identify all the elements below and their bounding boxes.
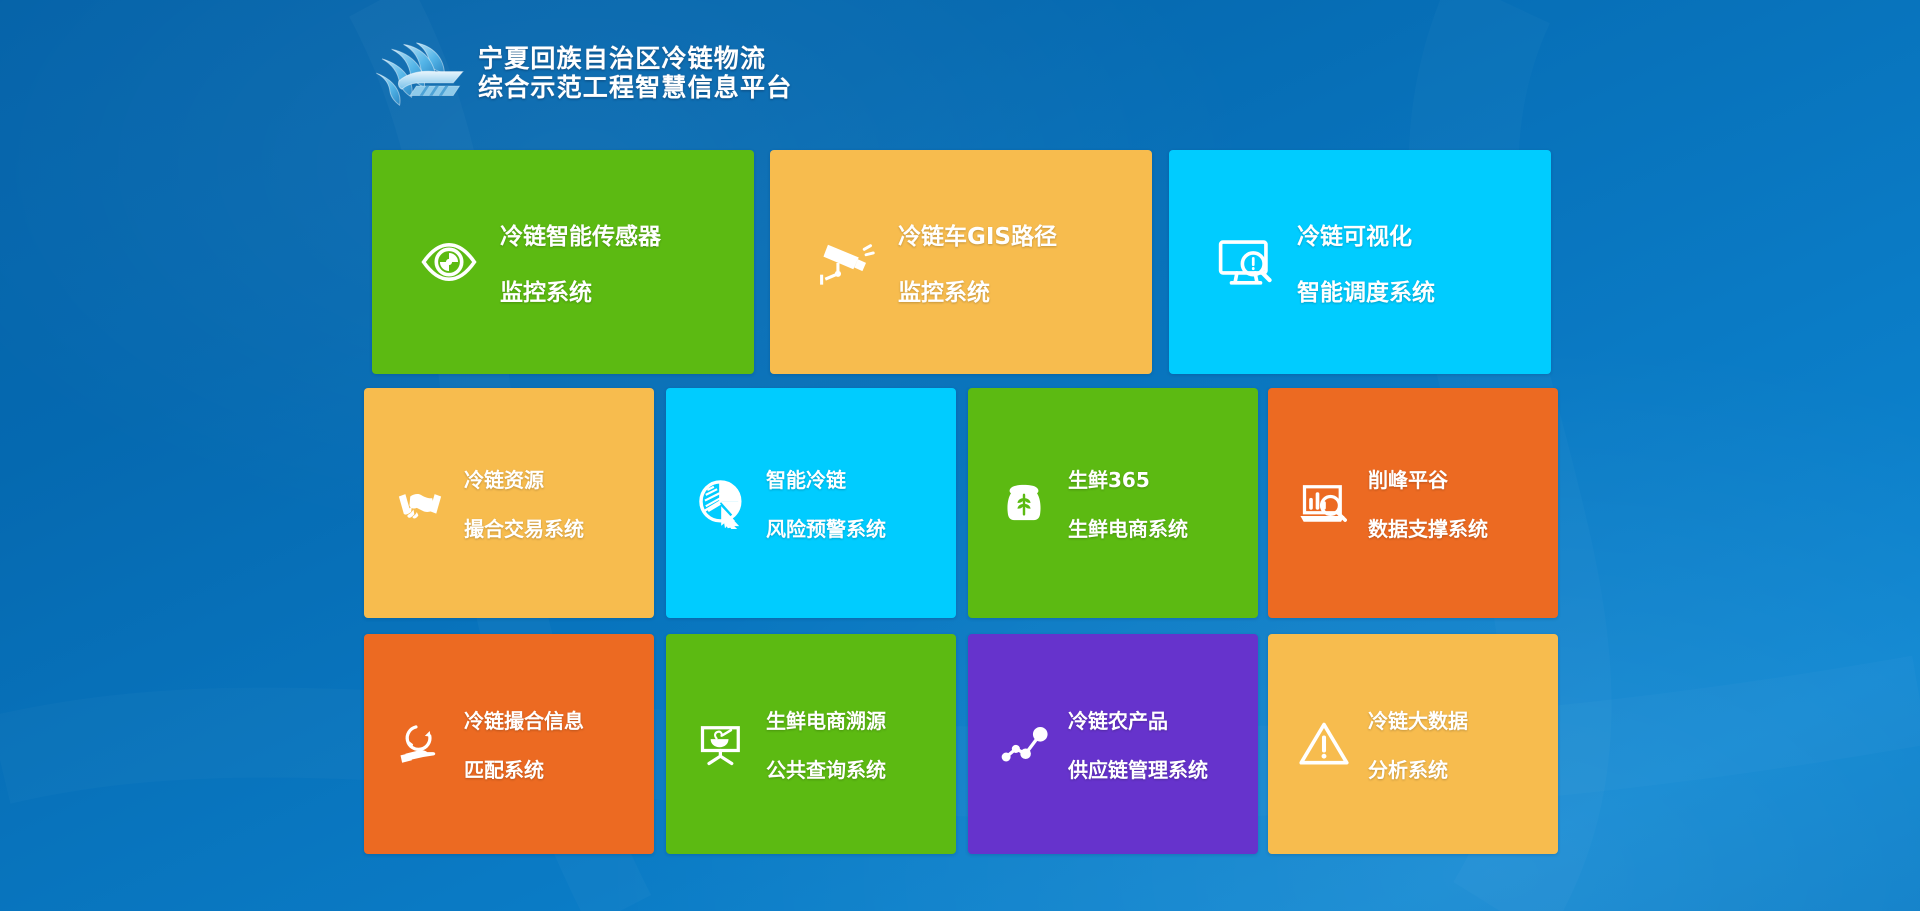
tile-cold-chain-visualization-smart-dispatch[interactable]: 冷链可视化智能调度系统 xyxy=(1169,150,1551,374)
title-line-1: 宁夏回族自治区冷链物流 xyxy=(478,44,792,73)
tile-cold-chain-vehicle-gis-route-monitoring[interactable]: 冷链车GIS路径监控系统 xyxy=(770,150,1152,374)
tile-label-line2: 监控系统 xyxy=(898,273,1057,307)
tile-label-line1: 生鲜电商溯源 xyxy=(766,705,886,734)
tile-label-line2: 供应链管理系统 xyxy=(1068,754,1208,783)
tile-label-line2: 智能调度系统 xyxy=(1297,273,1435,307)
tile-content: 冷链大数据分析系统 xyxy=(1268,705,1468,783)
tile-label-line1: 冷链大数据 xyxy=(1368,705,1468,734)
handshake-icon xyxy=(394,477,446,529)
tile-label-line2: 风险预警系统 xyxy=(766,513,886,542)
sensor-eye-icon xyxy=(420,233,478,291)
tile-content: 智能冷链风险预警系统 xyxy=(666,464,886,542)
node-network-icon xyxy=(998,718,1050,770)
tile-label-line1: 冷链资源 xyxy=(464,464,584,493)
tile-cold-chain-matching-info-system[interactable]: 冷链撮合信息匹配系统 xyxy=(364,634,654,854)
tile-label-line2: 生鲜电商系统 xyxy=(1068,513,1188,542)
tile-content: 冷链资源撮合交易系统 xyxy=(364,464,584,542)
tile-fresh-ecommerce-traceability-public-query[interactable]: 生鲜电商溯源公共查询系统 xyxy=(666,634,956,854)
tile-cold-chain-agri-product-supply-chain[interactable]: 冷链农产品供应链管理系统 xyxy=(968,634,1258,854)
tile-content: 冷链智能传感器监控系统 xyxy=(372,217,661,307)
platform-header: 宁夏回族自治区冷链物流 综合示范工程智慧信息平台 xyxy=(370,38,792,108)
tile-label-group: 冷链可视化智能调度系统 xyxy=(1297,217,1435,307)
platform-title: 宁夏回族自治区冷链物流 综合示范工程智慧信息平台 xyxy=(478,44,792,102)
tile-label-line2: 监控系统 xyxy=(500,273,661,307)
tile-label-line2: 匹配系统 xyxy=(464,754,584,783)
tile-cold-chain-resource-matching-trade[interactable]: 冷链资源撮合交易系统 xyxy=(364,388,654,618)
cctv-camera-icon xyxy=(818,233,876,291)
tile-content: 削峰平谷数据支撑系统 xyxy=(1268,464,1488,542)
tile-label-line1: 冷链撮合信息 xyxy=(464,705,584,734)
tile-label-group: 智能冷链风险预警系统 xyxy=(766,464,886,542)
tile-label-group: 生鲜365生鲜电商系统 xyxy=(1068,464,1188,542)
tile-label-line1: 削峰平谷 xyxy=(1368,464,1488,493)
tile-label-group: 冷链资源撮合交易系统 xyxy=(464,464,584,542)
tile-content: 生鲜电商溯源公共查询系统 xyxy=(666,705,886,783)
tile-content: 生鲜365生鲜电商系统 xyxy=(968,464,1188,542)
presentation-board-icon xyxy=(696,718,748,770)
laptop-chart-search-icon xyxy=(1298,477,1350,529)
tile-content: 冷链农产品供应链管理系统 xyxy=(968,705,1208,783)
monitor-search-icon xyxy=(1217,233,1275,291)
tile-label-line2: 数据支撑系统 xyxy=(1368,513,1488,542)
tile-label-line1: 冷链智能传感器 xyxy=(500,217,661,251)
tile-label-line1: 冷链农产品 xyxy=(1068,705,1208,734)
title-line-2: 综合示范工程智慧信息平台 xyxy=(478,73,792,102)
tile-label-group: 生鲜电商溯源公共查询系统 xyxy=(766,705,886,783)
tile-label-line2: 分析系统 xyxy=(1368,754,1468,783)
tile-smart-cold-chain-risk-warning[interactable]: 智能冷链风险预警系统 xyxy=(666,388,956,618)
tile-cold-chain-big-data-analysis[interactable]: 冷链大数据分析系统 xyxy=(1268,634,1558,854)
warning-triangle-icon xyxy=(1298,718,1350,770)
pie-chart-cursor-icon xyxy=(696,477,748,529)
tile-label-line1: 生鲜365 xyxy=(1068,464,1188,493)
tile-label-group: 冷链大数据分析系统 xyxy=(1368,705,1468,783)
tile-label-line2: 公共查询系统 xyxy=(766,754,886,783)
ningxia-wing-logo-icon xyxy=(370,38,466,108)
tile-content: 冷链可视化智能调度系统 xyxy=(1169,217,1435,307)
tile-label-line1: 智能冷链 xyxy=(766,464,886,493)
tile-label-line1: 冷链车GIS路径 xyxy=(898,217,1057,251)
tile-content: 冷链撮合信息匹配系统 xyxy=(364,705,584,783)
tile-label-group: 冷链车GIS路径监控系统 xyxy=(898,217,1057,307)
tile-label-line2: 撮合交易系统 xyxy=(464,513,584,542)
tile-cold-chain-smart-sensor-monitoring[interactable]: 冷链智能传感器监控系统 xyxy=(372,150,754,374)
tile-label-group: 冷链撮合信息匹配系统 xyxy=(464,705,584,783)
tile-label-group: 冷链农产品供应链管理系统 xyxy=(1068,705,1208,783)
tile-fresh365-fresh-ecommerce[interactable]: 生鲜365生鲜电商系统 xyxy=(968,388,1258,618)
tile-label-group: 冷链智能传感器监控系统 xyxy=(500,217,661,307)
hand-offer-icon xyxy=(394,718,446,770)
grain-sack-icon xyxy=(998,477,1050,529)
tile-label-line1: 冷链可视化 xyxy=(1297,217,1435,251)
tile-content: 冷链车GIS路径监控系统 xyxy=(770,217,1057,307)
system-tile-grid: 冷链智能传感器监控系统冷链车GIS路径监控系统冷链可视化智能调度系统冷链资源撮合… xyxy=(0,0,1920,911)
tile-label-group: 削峰平谷数据支撑系统 xyxy=(1368,464,1488,542)
tile-peak-shaving-valley-filling-data-support[interactable]: 削峰平谷数据支撑系统 xyxy=(1268,388,1558,618)
